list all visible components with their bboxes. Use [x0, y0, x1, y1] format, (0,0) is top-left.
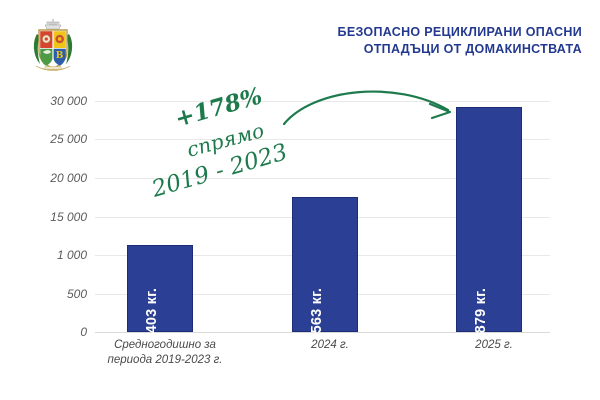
x-axis-label-3-line-1: 2025 г. [411, 338, 577, 353]
chart-title-line-1: БЕЗОПАСНО РЕЦИКЛИРАНИ ОПАСНИ [282, 24, 582, 41]
sofia-municipality-coat-of-arms-icon: B [28, 18, 78, 76]
x-axis-label-average-2019-2023: Средногодишно за периода 2019-2023 г. [82, 338, 248, 368]
gridline-30000 [95, 101, 550, 102]
y-tick-label-30000: 30 000 [50, 94, 87, 108]
y-tick-label-5000: 500 [67, 287, 87, 301]
bar-2025[interactable]: 28 879 кг. [456, 107, 522, 332]
x-axis-label-2024: 2024 г. [247, 338, 413, 353]
chart-canvas: B БЕЗОПАСНО РЕЦИКЛИРАНИ ОПАСНИ ОТПАДЪЦИ … [0, 0, 600, 400]
y-tick-label-20000: 20 000 [50, 171, 87, 185]
chart-title: БЕЗОПАСНО РЕЦИКЛИРАНИ ОПАСНИ ОТПАДЪЦИ ОТ… [282, 24, 582, 58]
chart-title-line-2: ОТПАДЪЦИ ОТ ДОМАКИНСТВАТА [282, 41, 582, 58]
y-tick-label-25000: 25 000 [50, 132, 87, 146]
y-tick-label-15000: 15 000 [50, 210, 87, 224]
bar-average-2019-2023[interactable]: 10 403 кг. [127, 245, 193, 332]
x-axis-label-2025: 2025 г. [411, 338, 577, 353]
x-axis-label-1-line-1: Средногодишно за [82, 338, 248, 353]
bar-2024[interactable]: 18 563 кг. [292, 197, 358, 332]
y-tick-label-0: 0 [80, 325, 87, 339]
y-tick-label-10000: 1 000 [57, 248, 87, 262]
plot-area: 10 403 кг. 18 563 кг. 28 879 кг. [95, 101, 550, 332]
svg-text:B: B [56, 51, 64, 61]
x-axis-label-1-line-2: периода 2019-2023 г. [82, 353, 248, 368]
x-axis-label-2-line-1: 2024 г. [247, 338, 413, 353]
